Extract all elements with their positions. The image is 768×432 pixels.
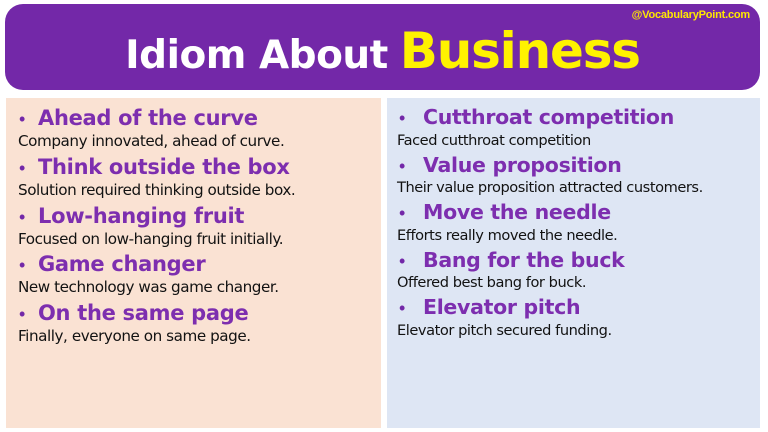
idiom-term: Ahead of the curve	[38, 107, 258, 129]
bullet-icon: •	[395, 157, 423, 175]
idiom-description: Solution required thinking outside box.	[18, 182, 373, 199]
list-item: • Ahead of the curve Company innovated, …	[14, 107, 373, 150]
idiom-description: Elevator pitch secured funding.	[397, 323, 752, 339]
bullet-icon: •	[395, 109, 423, 127]
idiom-term: On the same page	[38, 302, 248, 324]
right-column-panel: • Cutthroat competition Faced cutthroat …	[387, 98, 760, 428]
idiom-description: New technology was game changer.	[18, 279, 373, 296]
bullet-icon: •	[14, 110, 38, 128]
list-item: • Bang for the buck Offered best bang fo…	[395, 250, 752, 292]
title-accent-text: Business	[400, 26, 640, 76]
title-main-text: Idiom About	[125, 36, 388, 75]
bullet-icon: •	[395, 204, 423, 222]
idiom-description: Finally, everyone on same page.	[18, 328, 373, 345]
list-item: • Game changer New technology was game c…	[14, 253, 373, 296]
idiom-description: Offered best bang for buck.	[397, 275, 752, 291]
idiom-description: Faced cutthroat competition	[397, 133, 752, 149]
idiom-infographic: { "header": { "watermark": "@VocabularyP…	[0, 0, 768, 432]
idiom-description: Efforts really moved the needle.	[397, 228, 752, 244]
bullet-icon: •	[14, 159, 38, 177]
idiom-heading: • On the same page	[14, 302, 373, 324]
idiom-heading: • Think outside the box	[14, 156, 373, 178]
idiom-description: Their value proposition attracted custom…	[397, 180, 752, 196]
idiom-heading: • Ahead of the curve	[14, 107, 373, 129]
idiom-heading: • Value proposition	[395, 155, 752, 177]
idiom-heading: • Move the needle	[395, 202, 752, 224]
bullet-icon: •	[14, 305, 38, 323]
list-item: • On the same page Finally, everyone on …	[14, 302, 373, 345]
bullet-icon: •	[14, 256, 38, 274]
left-column-panel: • Ahead of the curve Company innovated, …	[6, 98, 381, 428]
watermark-label: @VocabularyPoint.com	[632, 9, 750, 21]
idiom-term: Bang for the buck	[423, 250, 625, 272]
list-item: • Move the needle Efforts really moved t…	[395, 202, 752, 244]
idiom-term: Think outside the box	[38, 156, 290, 178]
list-item: • Elevator pitch Elevator pitch secured …	[395, 297, 752, 339]
idiom-description: Company innovated, ahead of curve.	[18, 133, 373, 150]
bullet-icon: •	[14, 208, 38, 226]
idiom-heading: • Game changer	[14, 253, 373, 275]
list-item: • Low-hanging fruit Focused on low-hangi…	[14, 205, 373, 248]
idiom-heading: • Elevator pitch	[395, 297, 752, 319]
idiom-description: Focused on low-hanging fruit initially.	[18, 231, 373, 248]
idiom-term: Cutthroat competition	[423, 107, 674, 129]
list-item: • Think outside the box Solution require…	[14, 156, 373, 199]
bullet-icon: •	[395, 299, 423, 317]
idiom-term: Low-hanging fruit	[38, 205, 244, 227]
list-item: • Value proposition Their value proposit…	[395, 155, 752, 197]
idiom-term: Value proposition	[423, 155, 622, 177]
header-banner: @VocabularyPoint.com Idiom About Busines…	[5, 4, 760, 90]
idiom-heading: • Low-hanging fruit	[14, 205, 373, 227]
idiom-heading: • Bang for the buck	[395, 250, 752, 272]
idiom-term: Game changer	[38, 253, 205, 275]
list-item: • Cutthroat competition Faced cutthroat …	[395, 107, 752, 149]
page-title: Idiom About Business	[5, 26, 760, 76]
idiom-heading: • Cutthroat competition	[395, 107, 752, 129]
idiom-term: Move the needle	[423, 202, 611, 224]
idiom-term: Elevator pitch	[423, 297, 580, 319]
bullet-icon: •	[395, 252, 423, 270]
content-columns: • Ahead of the curve Company innovated, …	[0, 98, 768, 428]
